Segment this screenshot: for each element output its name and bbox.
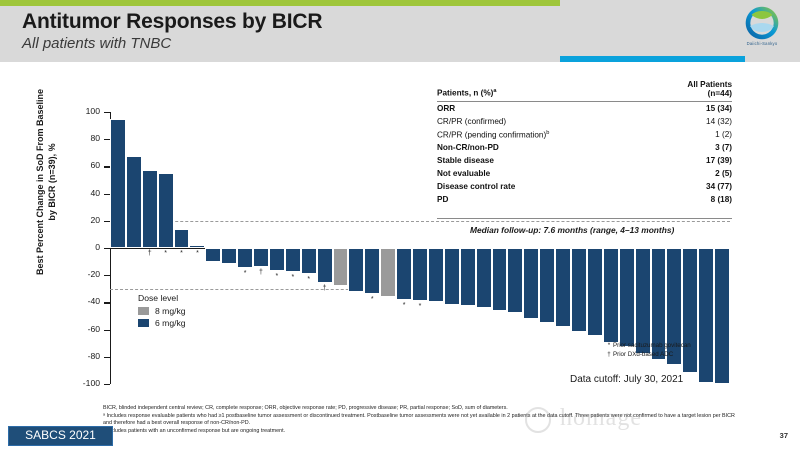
footnote-a: ᵃ Includes response evaluable patients w… [103, 413, 743, 428]
y-axis-tick-label: 60 [66, 160, 100, 170]
bar [714, 248, 730, 384]
bar [507, 248, 523, 313]
y-axis-tick-label: -100 [66, 378, 100, 388]
legend-swatch-icon [138, 307, 149, 315]
bar [492, 248, 508, 311]
legend-swatch-icon [138, 319, 149, 327]
bar [301, 248, 317, 274]
bar [396, 248, 412, 300]
bar [269, 248, 285, 271]
y-axis-title-line1: Best Percent Change in SoD From Baseline [34, 82, 46, 282]
y-axis-tick-label: -40 [66, 296, 100, 306]
bar [333, 248, 349, 286]
prior-therapy-marker: † [142, 250, 158, 257]
prior-therapy-marker: * [174, 250, 190, 257]
bar [110, 119, 126, 248]
bar [555, 248, 571, 327]
dose-level-legend: Dose level 8 mg/kg6 mg/kg [138, 292, 186, 330]
bar [523, 248, 539, 319]
marker-legend-item: *Prior sacituzumab govitecan [605, 341, 691, 350]
prior-therapy-marker: * [364, 296, 380, 303]
y-axis-tick-label: 80 [66, 133, 100, 143]
prior-therapy-marker: * [237, 270, 253, 277]
y-axis-title: Best Percent Change in SoD From Baseline… [34, 82, 58, 282]
bar [428, 248, 444, 302]
data-cutoff-label: Data cutoff: July 30, 2021 [570, 374, 683, 385]
prior-therapy-marker: * [412, 303, 428, 310]
bar [189, 245, 205, 248]
prior-therapy-marker: * [189, 250, 205, 257]
prior-therapy-marker: * [301, 276, 317, 283]
prior-therapy-marker: † [253, 269, 269, 276]
waterfall-chart: 100806040200-20-40-60-80-100 Best Percen… [0, 0, 800, 449]
bar [126, 156, 142, 248]
bar [571, 248, 587, 332]
marker-symbol-icon: * [605, 341, 613, 350]
y-axis-tick-label: -60 [66, 324, 100, 334]
bar [364, 248, 380, 294]
bar [380, 248, 396, 297]
bar [348, 248, 364, 292]
prior-therapy-marker: * [285, 274, 301, 281]
marker-legend-label: Prior DXd-based ADC [613, 351, 673, 358]
footnote-b: ᵇ Includes patients with an unconfirmed … [103, 428, 743, 436]
bar [237, 248, 253, 268]
dose-legend-items: 8 mg/kg6 mg/kg [138, 305, 186, 330]
bar [158, 173, 174, 248]
dose-legend-label: 8 mg/kg [155, 306, 186, 316]
bar [412, 248, 428, 301]
slide-root: Antitumor Responses by BICR All patients… [0, 0, 800, 449]
dose-legend-item: 6 mg/kg [138, 317, 186, 330]
y-axis-tick-label: 40 [66, 188, 100, 198]
marker-legend-label: Prior sacituzumab govitecan [613, 342, 691, 349]
bar [587, 248, 603, 336]
median-followup-annotation: Median follow-up: 7.6 months (range, 4–1… [470, 225, 674, 235]
bar [619, 248, 635, 347]
bar [460, 248, 476, 306]
page-number: 37 [780, 431, 788, 440]
prior-therapy-legend: *Prior sacituzumab govitecan†Prior DXd-b… [605, 341, 691, 359]
bar [317, 248, 333, 283]
bar [635, 248, 651, 354]
bar [698, 248, 714, 383]
bar [253, 248, 269, 267]
prior-therapy-marker: † [317, 285, 333, 292]
bar [205, 248, 221, 262]
dose-legend-title: Dose level [138, 292, 186, 305]
marker-legend-item: †Prior DXd-based ADC [605, 350, 691, 359]
bar [444, 248, 460, 305]
footnotes-block: BICR, blinded independent central review… [103, 405, 743, 435]
dose-legend-item: 8 mg/kg [138, 305, 186, 318]
y-axis-tick-mark [104, 384, 110, 385]
marker-symbol-icon: † [605, 350, 613, 359]
bar [142, 170, 158, 248]
y-axis-tick-label: 20 [66, 215, 100, 225]
bar [174, 229, 190, 248]
footnote-abbreviations: BICR, blinded independent central review… [103, 405, 743, 413]
bar [603, 248, 619, 343]
bar [476, 248, 492, 308]
prior-therapy-marker: * [396, 302, 412, 309]
bar [285, 248, 301, 272]
prior-therapy-marker: * [269, 273, 285, 280]
dose-legend-label: 6 mg/kg [155, 318, 186, 328]
y-axis-tick-label: -20 [66, 269, 100, 279]
watermark-icon [525, 407, 551, 433]
y-axis-tick-label: -80 [66, 351, 100, 361]
bar [539, 248, 555, 323]
y-axis-tick-label: 100 [66, 106, 100, 116]
bar [221, 248, 237, 264]
conference-badge: SABCS 2021 [8, 426, 113, 446]
y-axis-title-line2: by BICR (n=39), % [46, 82, 58, 282]
prior-therapy-marker: * [158, 250, 174, 257]
y-axis-tick-label: 0 [66, 242, 100, 252]
